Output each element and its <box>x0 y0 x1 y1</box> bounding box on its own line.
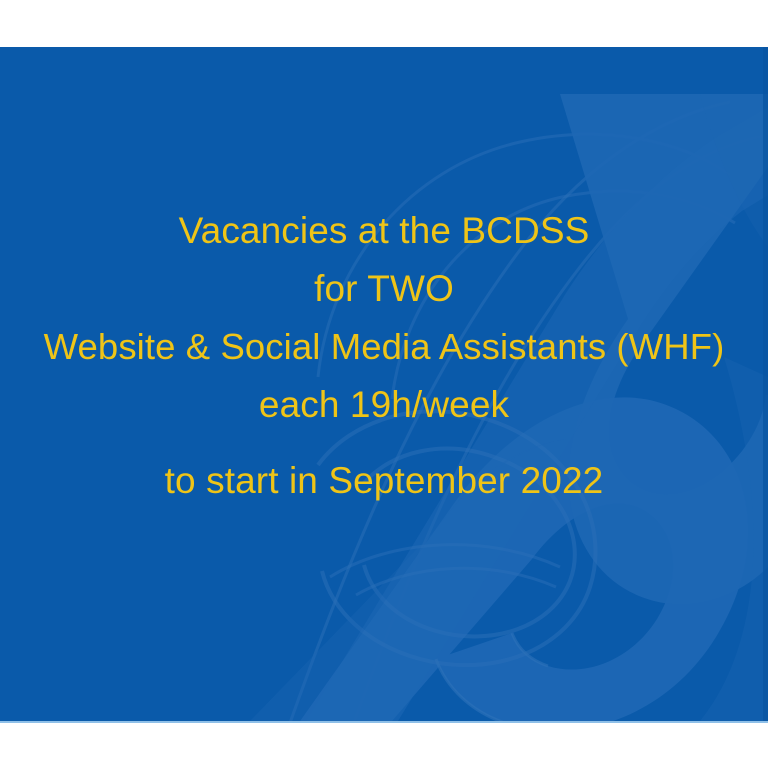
slide-text-block: Vacancies at the BCDSS for TWO Website &… <box>0 47 768 721</box>
slide-canvas: Vacancies at the BCDSS for TWO Website &… <box>0 47 768 721</box>
slide-line-4: each 19h/week <box>259 376 509 434</box>
slide-line-3: Website & Social Media Assistants (WHF) <box>44 318 725 376</box>
slide-line-5: to start in September 2022 <box>165 452 604 510</box>
slide-line-2: for TWO <box>314 260 454 318</box>
slide-line-1: Vacancies at the BCDSS <box>179 202 590 260</box>
slide-frame: Vacancies at the BCDSS for TWO Website &… <box>0 0 768 768</box>
bottom-rule <box>0 721 768 723</box>
